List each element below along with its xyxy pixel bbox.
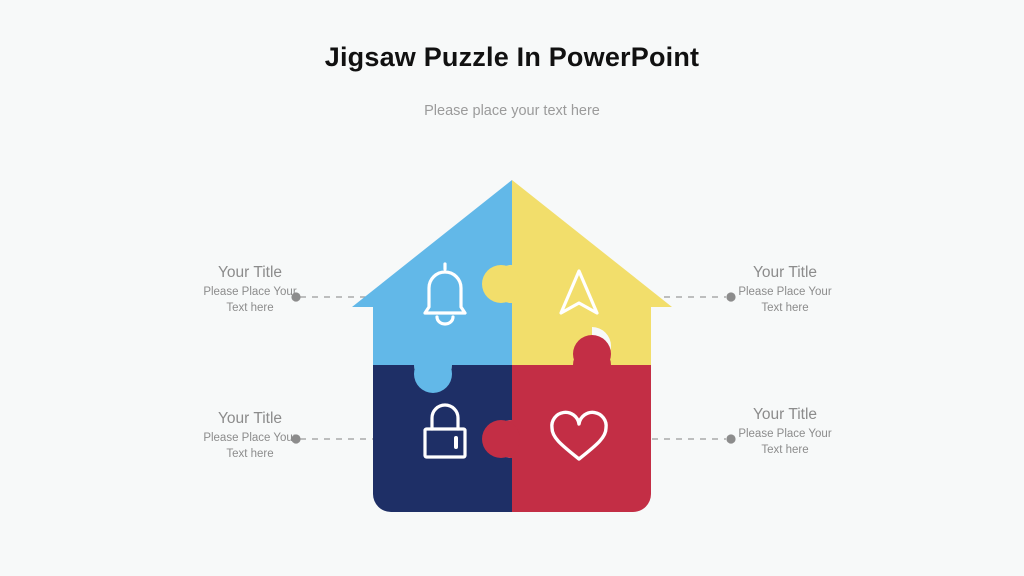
puzzle-tab-roof-left-bottom[interactable] [414, 355, 452, 393]
callout-description: Please Place Your Text here [698, 427, 872, 458]
callout-description-line-2: Text here [226, 448, 273, 460]
callout-title: Your Title [150, 409, 350, 429]
callout-description-line-1: Please Place Your [203, 432, 296, 444]
callout-description: Please Place Your Text here [698, 285, 872, 316]
callout-description-line-2: Text here [226, 302, 273, 314]
callout-bottom-left[interactable]: Your Title Please Place Your Text here [154, 409, 350, 462]
page-subtitle: Please place your text here [0, 103, 1024, 119]
puzzle-tab-base-right-left[interactable] [482, 420, 520, 458]
callout-description: Please Place Your Text here [150, 431, 350, 462]
puzzle-piece-roof-right[interactable] [493, 180, 672, 365]
callout-description: Please Place Your Text here [150, 285, 350, 316]
slide-canvas: Jigsaw Puzzle In PowerPoint Please place… [0, 0, 1024, 576]
callout-bottom-right[interactable]: Your Title Please Place Your Text here [676, 405, 872, 458]
callout-top-right[interactable]: Your Title Please Place Your Text here [676, 263, 872, 316]
callout-title: Your Title [698, 263, 872, 283]
callout-top-left[interactable]: Your Title Please Place Your Text here [154, 263, 350, 316]
callout-description-line-1: Please Place Your [738, 286, 831, 298]
callout-description-line-1: Please Place Your [738, 428, 831, 440]
callout-title: Your Title [698, 405, 872, 425]
page-title: Jigsaw Puzzle In PowerPoint [0, 42, 1024, 73]
puzzle-tab-base-right-top[interactable] [573, 335, 611, 373]
callout-description-line-1: Please Place Your [203, 286, 296, 298]
callout-description-line-2: Text here [761, 302, 808, 314]
callout-description-line-2: Text here [761, 444, 808, 456]
callout-title: Your Title [150, 263, 350, 283]
puzzle-tab-roof-right[interactable] [482, 265, 520, 303]
